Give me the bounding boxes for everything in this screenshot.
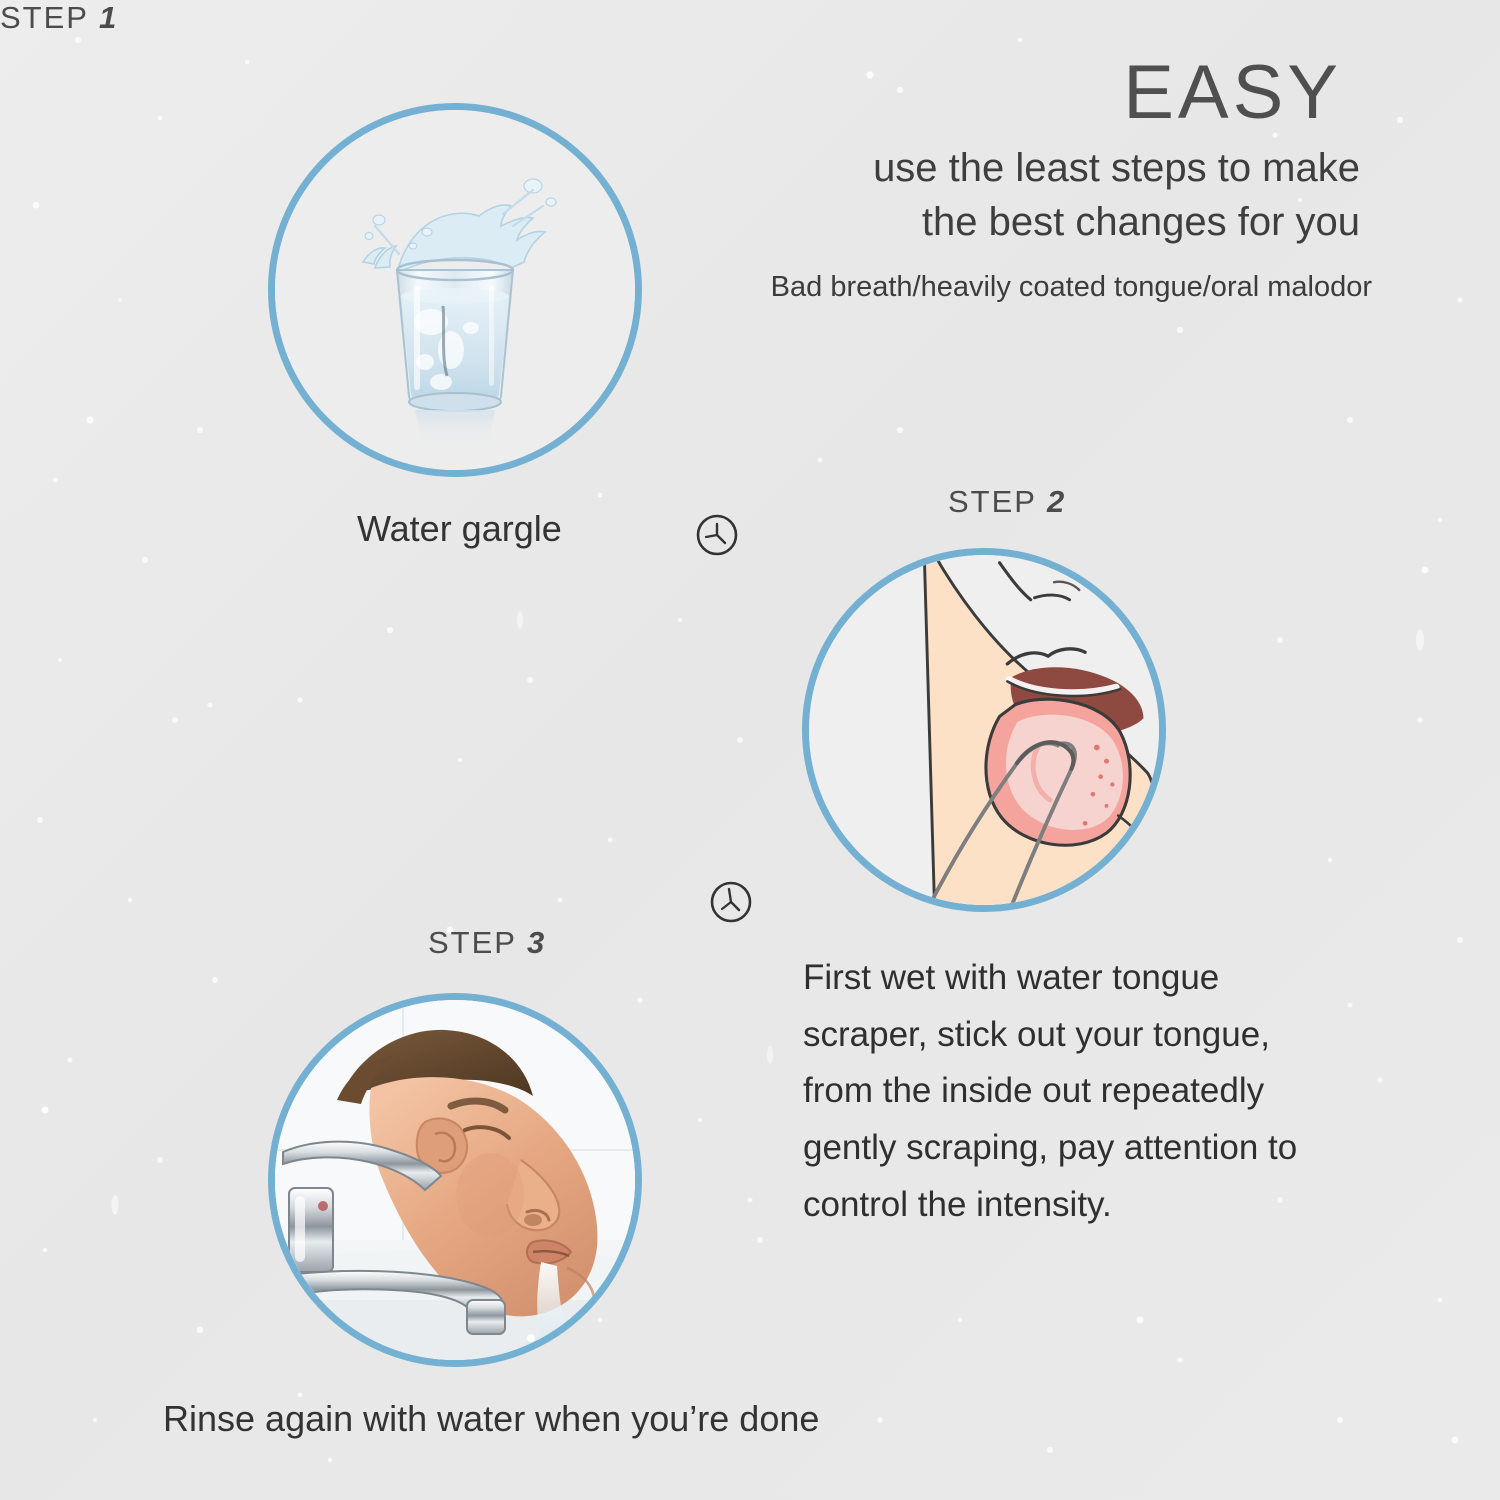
tagline: Bad breath/heavily coated tongue/oral ma… — [700, 271, 1372, 304]
step-1-caption: Water gargle — [357, 508, 562, 550]
step-2-number: 2 — [1047, 484, 1066, 519]
glass-of-water-splash-icon — [275, 110, 635, 470]
page-title: EASY — [700, 55, 1342, 131]
tongue-scraper-illustration-icon — [809, 555, 1159, 905]
infographic-poster: EASY use the least steps to make the bes… — [0, 0, 1500, 1500]
step-3-image-circle — [268, 993, 642, 1367]
subtitle-line-2: the best changes for you — [700, 195, 1360, 249]
step-1-number: 1 — [99, 0, 118, 35]
clock-icon — [708, 879, 754, 925]
step-1-label-text: STEP — [0, 0, 89, 35]
step-2-image-circle — [802, 548, 1166, 912]
step-1-image-circle — [268, 103, 642, 477]
subtitle-line-1: use the least steps to make — [700, 141, 1360, 195]
header-block: EASY use the least steps to make the bes… — [700, 55, 1380, 304]
step-2-label: STEP2 — [948, 484, 1066, 520]
step-3-number: 3 — [527, 925, 546, 960]
man-rinsing-at-faucet-icon — [275, 1000, 635, 1360]
step-2-label-text: STEP — [948, 484, 1037, 519]
step-2-body-text: First wet with water tongue scraper, sti… — [803, 950, 1303, 1233]
step-1-label: STEP1 — [0, 0, 118, 36]
step-3-caption: Rinse again with water when you’re done — [163, 1398, 819, 1440]
clock-icon — [694, 512, 740, 558]
step-3-label: STEP3 — [428, 925, 546, 961]
step-3-label-text: STEP — [428, 925, 517, 960]
